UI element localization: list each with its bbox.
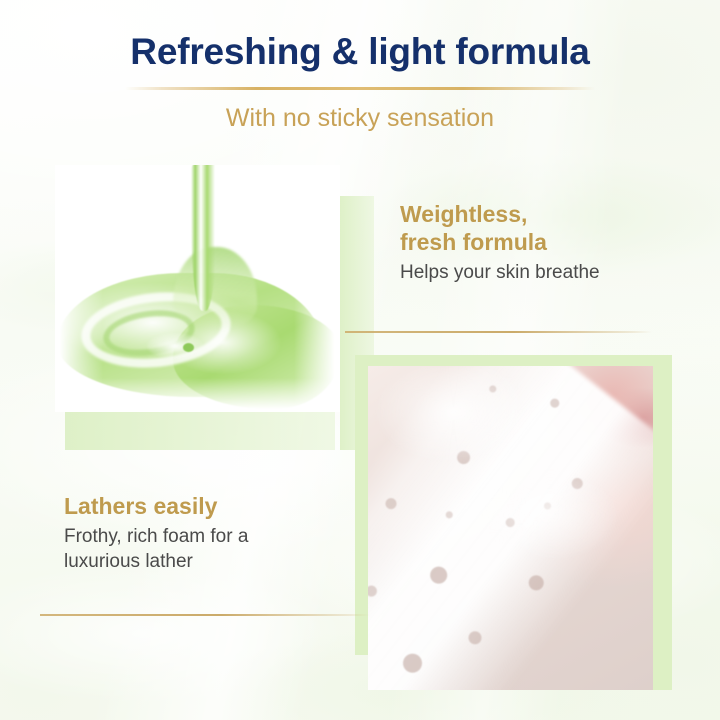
promo-banner: Refreshing & light formula With no stick… — [0, 0, 720, 720]
gel-specular-highlight — [147, 333, 203, 359]
feature-weightless: Weightless, fresh formula Helps your ski… — [400, 200, 685, 286]
feature-weightless-title-line2: fresh formula — [400, 229, 547, 255]
gel-fade-right — [294, 165, 340, 412]
page-subtitle: With no sticky sensation — [0, 90, 720, 133]
feature-lathers-description-line2: luxurious lather — [64, 551, 193, 572]
header: Refreshing & light formula With no stick… — [0, 0, 720, 133]
feature-weightless-description: Helps your skin breathe — [400, 256, 685, 286]
page-title: Refreshing & light formula — [0, 0, 720, 73]
feature-lathers-description-line1: Frothy, rich foam for a — [64, 526, 248, 547]
gel-photo — [55, 165, 340, 412]
feature-weightless-title: Weightless, fresh formula — [400, 200, 685, 256]
gel-fade-left — [55, 165, 103, 412]
feature-weightless-divider — [345, 331, 652, 333]
foam-soft-glow — [368, 366, 653, 690]
feature-weightless-title-line1: Weightless, — [400, 201, 527, 227]
gel-illustration — [55, 165, 340, 412]
gel-fade-bottom — [55, 378, 340, 412]
foam-photo — [368, 366, 653, 690]
feature-lathers: Lathers easily Frothy, rich foam for a l… — [64, 492, 364, 574]
foam-accent-band-right — [653, 355, 672, 690]
feature-lathers-title: Lathers easily — [64, 492, 364, 520]
feature-lathers-divider — [40, 614, 370, 616]
gel-bubble-dot — [183, 343, 194, 352]
gel-accent-band-bottom — [65, 408, 335, 450]
feature-lathers-description: Frothy, rich foam for a luxurious lather — [64, 520, 364, 574]
